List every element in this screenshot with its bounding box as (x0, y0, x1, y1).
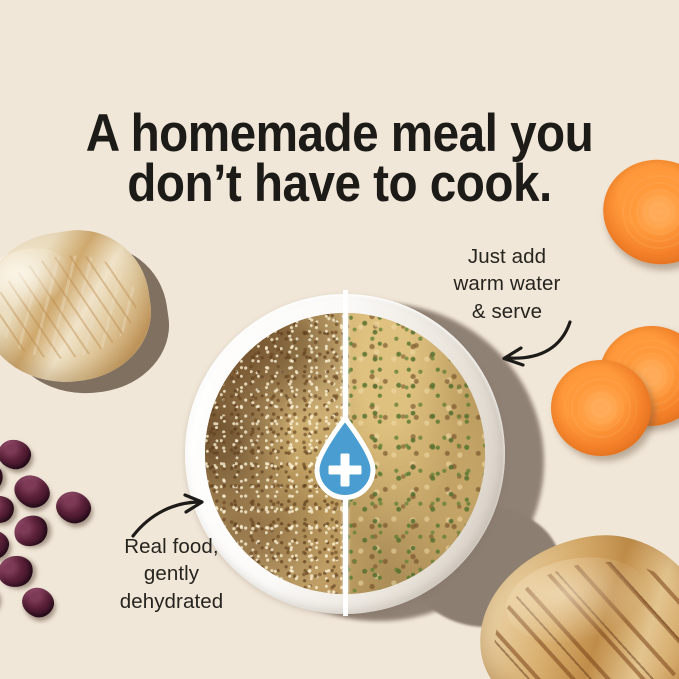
annotation-left-line-2: gently (84, 560, 259, 587)
headline-line-2: don’t have to cook. (34, 159, 645, 210)
curved-arrow-down-left-icon (492, 316, 578, 372)
annotation-right-line-1: Just add (417, 243, 597, 270)
annotation-left-line-3: dehydrated (84, 588, 259, 615)
annotation-right-line-2: warm water (417, 270, 597, 297)
annotation-real-food: Real food, gently dehydrated (84, 533, 259, 615)
add-water-badge[interactable] (309, 416, 381, 509)
page-headline: A homemade meal you don’t have to cook. (34, 109, 645, 211)
water-drop-plus-icon (309, 416, 381, 504)
annotation-add-water: Just add warm water & serve (417, 243, 597, 325)
cod-fillet-image (0, 221, 160, 393)
advertisement-canvas: A homemade meal you don’t have to cook. … (0, 0, 679, 679)
sweet-potato-slice-image (551, 360, 651, 456)
curved-arrow-up-right-icon (128, 492, 210, 544)
